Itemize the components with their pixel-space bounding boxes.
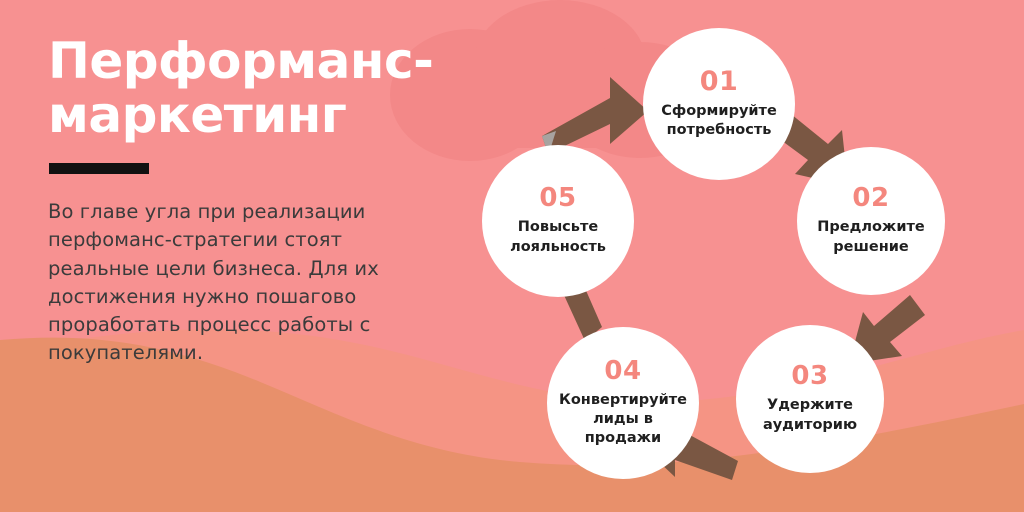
title-underline-rule xyxy=(49,163,149,174)
cycle-node-02-label: Предложите решение xyxy=(811,218,930,256)
cycle-node-01-label: Сформируйте потребность xyxy=(655,102,783,140)
cycle-node-01-number: 01 xyxy=(700,68,739,95)
cycle-node-05[interactable]: 05 Повысьте лояльность xyxy=(482,145,634,297)
cycle-node-02-number: 02 xyxy=(852,185,889,211)
cycle-node-02[interactable]: 02 Предложите решение xyxy=(797,147,945,295)
cycle-node-04-number: 04 xyxy=(604,358,641,384)
text-column: Перформанс- маркетинг Во главе угла при … xyxy=(48,34,440,368)
cycle-node-03-number: 03 xyxy=(791,363,828,389)
page-title: Перформанс- маркетинг xyxy=(48,34,440,142)
cycle-node-03[interactable]: 03 Удержите аудиторию xyxy=(736,325,884,473)
body-paragraph: Во главе угла при реализации перфоманс-с… xyxy=(48,198,440,368)
cycle-node-04-label: Конвертируйте лиды в продажи xyxy=(553,391,693,448)
cycle-node-05-number: 05 xyxy=(539,185,576,211)
cycle-node-03-label: Удержите аудиторию xyxy=(757,396,863,434)
cycle-diagram: 01 Сформируйте потребность 02 Предложите… xyxy=(470,14,1024,506)
cycle-node-05-label: Повысьте лояльность xyxy=(504,218,612,256)
arrow-05-to-01 xyxy=(542,77,648,154)
infographic-slide: Перформанс- маркетинг Во главе угла при … xyxy=(0,0,1024,512)
cycle-node-04[interactable]: 04 Конвертируйте лиды в продажи xyxy=(547,327,699,479)
cycle-node-01[interactable]: 01 Сформируйте потребность xyxy=(643,28,795,180)
